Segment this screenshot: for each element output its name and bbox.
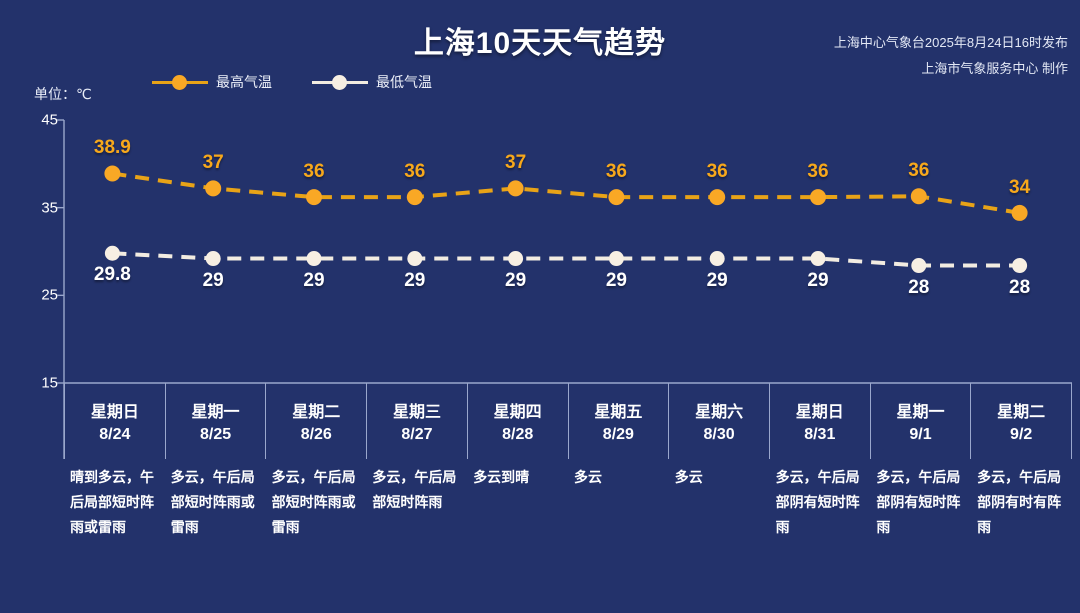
value-label-high-1: 37 xyxy=(203,152,224,174)
day-column-header[interactable]: 星期日8/31 xyxy=(769,383,870,459)
date-label: 8/31 xyxy=(804,426,835,444)
data-point-high-1 xyxy=(205,180,221,196)
weekday-label: 星期日 xyxy=(91,398,139,422)
day-header-row: 星期日8/24星期一8/25星期二8/26星期三8/27星期四8/28星期五8/… xyxy=(64,383,1072,459)
y-axis-tick-25: 25 xyxy=(24,287,58,304)
day-column-header[interactable]: 星期二9/2 xyxy=(970,383,1072,459)
date-label: 8/27 xyxy=(401,426,432,444)
day-column-header[interactable]: 星期六8/30 xyxy=(668,383,769,459)
data-point-low-2 xyxy=(307,251,322,266)
value-label-low-6: 29 xyxy=(707,270,728,292)
data-point-high-8 xyxy=(911,188,927,204)
weather-description: 多云 xyxy=(669,465,770,605)
legend-marker-low-icon xyxy=(312,74,368,90)
value-label-low-4: 29 xyxy=(505,270,526,292)
value-label-high-7: 36 xyxy=(807,161,828,183)
value-label-low-9: 28 xyxy=(1009,277,1030,299)
data-point-low-0 xyxy=(105,246,120,261)
day-column-header[interactable]: 星期三8/27 xyxy=(366,383,467,459)
date-label: 8/26 xyxy=(301,426,332,444)
weekday-label: 星期一 xyxy=(896,398,944,422)
weather-description: 多云，午后局部短时阵雨或雷雨 xyxy=(266,465,367,605)
data-point-low-7 xyxy=(811,251,826,266)
data-point-low-3 xyxy=(407,251,422,266)
value-label-high-0: 38.9 xyxy=(94,137,131,159)
publisher-line-1: 上海中心气象台2025年8月24日16时发布 xyxy=(834,30,1068,56)
date-label: 8/25 xyxy=(200,426,231,444)
weather-description: 多云，午后局部短时阵雨或雷雨 xyxy=(165,465,266,605)
data-point-high-6 xyxy=(709,189,725,205)
chart-legend: 最高气温 最低气温 xyxy=(152,72,432,92)
value-label-high-6: 36 xyxy=(707,161,728,183)
weather-description: 多云到晴 xyxy=(467,465,568,605)
value-label-low-5: 29 xyxy=(606,270,627,292)
weekday-label: 星期四 xyxy=(494,398,542,422)
day-column-header[interactable]: 星期二8/26 xyxy=(265,383,366,459)
data-point-low-4 xyxy=(508,251,523,266)
series-line-low xyxy=(112,253,1019,265)
weather-description-row: 晴到多云，午后局部短时阵雨或雷雨多云，午后局部短时阵雨或雷雨多云，午后局部短时阵… xyxy=(64,465,1072,605)
legend-marker-high-icon xyxy=(152,74,208,90)
value-label-low-7: 29 xyxy=(807,270,828,292)
value-label-high-4: 37 xyxy=(505,152,526,174)
day-column-header[interactable]: 星期一9/1 xyxy=(870,383,971,459)
value-label-low-8: 28 xyxy=(908,277,929,299)
weekday-label: 星期日 xyxy=(796,398,844,422)
value-label-low-2: 29 xyxy=(303,270,324,292)
value-label-low-1: 29 xyxy=(203,270,224,292)
data-point-high-9 xyxy=(1012,205,1028,221)
date-label: 8/24 xyxy=(99,426,130,444)
data-point-low-9 xyxy=(1012,258,1027,273)
data-point-high-7 xyxy=(810,189,826,205)
value-label-low-3: 29 xyxy=(404,270,425,292)
date-label: 9/2 xyxy=(1010,426,1032,444)
weekday-label: 星期六 xyxy=(695,398,743,422)
day-column-header[interactable]: 星期五8/29 xyxy=(568,383,669,459)
data-point-high-4 xyxy=(508,180,524,196)
y-axis-tick-45: 45 xyxy=(24,112,58,129)
publisher-info: 上海中心气象台2025年8月24日16时发布 上海市气象服务中心 制作 xyxy=(834,30,1068,82)
weekday-label: 星期五 xyxy=(594,398,642,422)
day-column-header[interactable]: 星期一8/25 xyxy=(165,383,266,459)
weather-description: 晴到多云，午后局部短时阵雨或雷雨 xyxy=(64,465,165,605)
data-point-high-5 xyxy=(608,189,624,205)
data-point-low-6 xyxy=(710,251,725,266)
data-point-low-8 xyxy=(911,258,926,273)
date-label: 8/29 xyxy=(603,426,634,444)
data-point-high-3 xyxy=(407,189,423,205)
data-point-low-5 xyxy=(609,251,624,266)
data-point-high-2 xyxy=(306,189,322,205)
y-axis-tick-35: 35 xyxy=(24,199,58,216)
value-label-high-5: 36 xyxy=(606,161,627,183)
day-column-header[interactable]: 星期日8/24 xyxy=(64,383,165,459)
legend-label-low: 最低气温 xyxy=(376,72,432,92)
weather-description: 多云，午后局部阴有时有阵雨 xyxy=(971,465,1072,605)
date-label: 8/28 xyxy=(502,426,533,444)
weather-description: 多云，午后局部短时阵雨 xyxy=(366,465,467,605)
data-point-low-1 xyxy=(206,251,221,266)
publisher-line-2: 上海市气象服务中心 制作 xyxy=(834,56,1068,82)
legend-item-low: 最低气温 xyxy=(312,72,432,92)
weather-description: 多云，午后局部阴有短时阵雨 xyxy=(770,465,871,605)
legend-item-high: 最高气温 xyxy=(152,72,272,92)
y-axis-labels: 15253545 xyxy=(24,0,58,613)
date-label: 8/30 xyxy=(704,426,735,444)
weekday-label: 星期一 xyxy=(192,398,240,422)
y-axis-tick-15: 15 xyxy=(24,375,58,392)
value-label-high-3: 36 xyxy=(404,161,425,183)
weather-description: 多云 xyxy=(568,465,669,605)
legend-label-high: 最高气温 xyxy=(216,72,272,92)
value-label-high-9: 34 xyxy=(1009,177,1030,199)
day-column-header[interactable]: 星期四8/28 xyxy=(467,383,568,459)
weekday-label: 星期二 xyxy=(997,398,1045,422)
data-point-high-0 xyxy=(104,165,120,181)
series-line-high xyxy=(112,174,1019,213)
chart-canvas: 上海10天天气趋势 上海中心气象台2025年8月24日16时发布 上海市气象服务… xyxy=(0,0,1080,613)
date-label: 9/1 xyxy=(909,426,931,444)
weekday-label: 星期二 xyxy=(292,398,340,422)
value-label-high-8: 36 xyxy=(908,160,929,182)
value-label-low-0: 29.8 xyxy=(94,264,131,286)
weather-description: 多云，午后局部阴有短时阵雨 xyxy=(870,465,971,605)
value-label-high-2: 36 xyxy=(303,161,324,183)
weekday-label: 星期三 xyxy=(393,398,441,422)
